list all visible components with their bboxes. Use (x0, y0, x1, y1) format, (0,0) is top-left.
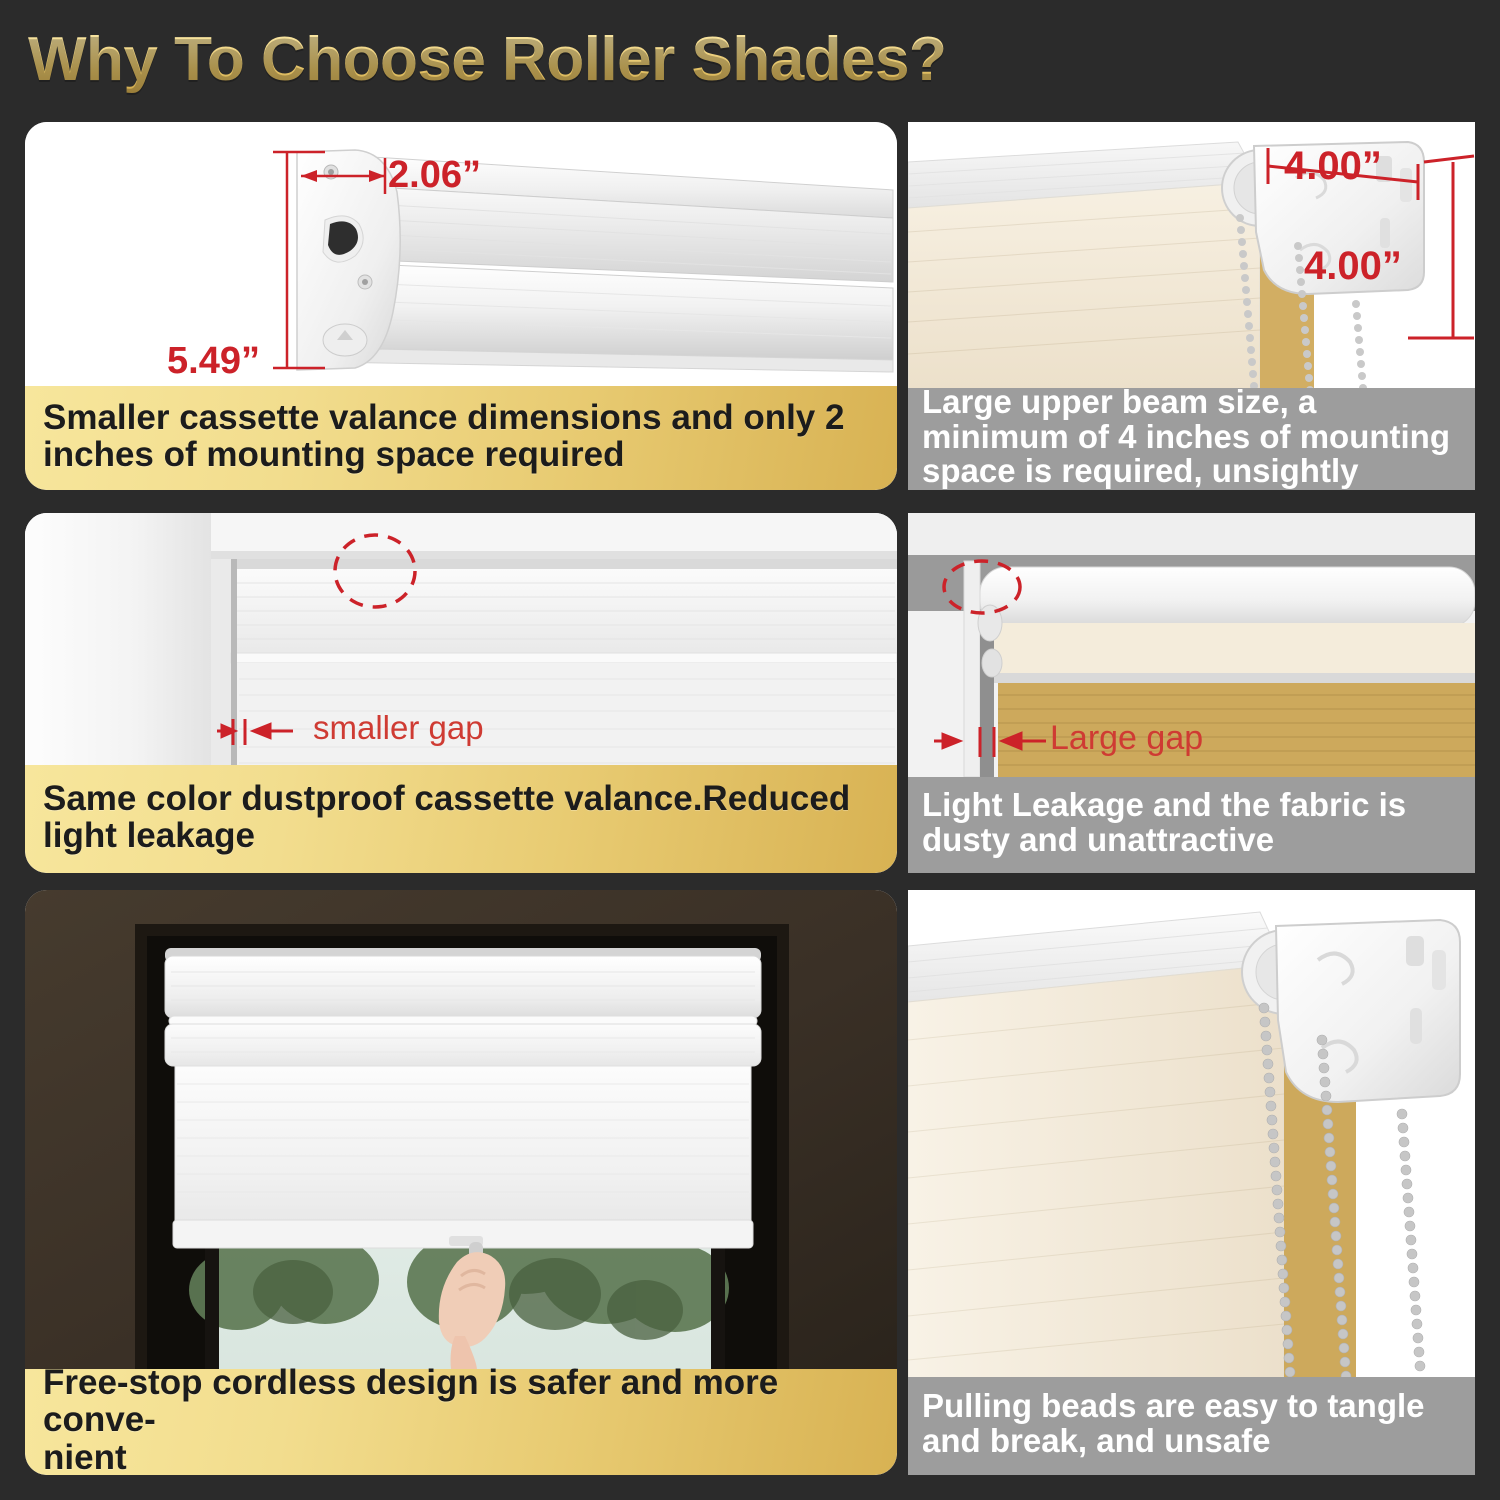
dimension-label-width: 2.06” (388, 154, 481, 197)
panel-5-caption: Free-stop cordless design is safer and m… (25, 1369, 897, 1475)
caption-line: Pulling beads are easy to tangle (922, 1389, 1461, 1424)
panel-3-caption: Same color dustproof cassette valance.Re… (25, 765, 897, 873)
caption-line: dusty and unattractive (922, 823, 1461, 858)
bead-chain-illustration (908, 890, 1475, 1378)
panel-2-caption: Large upper beam size, a minimum of 4 in… (908, 388, 1475, 490)
panel-6-caption: Pulling beads are easy to tangle and bre… (908, 1377, 1475, 1475)
panel-cassette-valance-dimensions: 2.06” 5.49” Smaller cassette valance dim… (25, 122, 897, 490)
panel-free-stop-cordless-design: Free-stop cordless design is safer and m… (25, 890, 897, 1475)
caption-line: light leakage (43, 817, 879, 854)
caption-line: Large upper beam size, a (922, 385, 1461, 420)
panel-light-leakage-dusty-fabric: Large gap Light Leakage and the fabric i… (908, 513, 1475, 873)
dimension-label-height: 5.49” (167, 340, 260, 383)
window-room-scene (25, 890, 897, 1370)
caption-line: Free-stop cordless design is safer and m… (43, 1364, 879, 1438)
dimension-label-width: 4.00” (1284, 144, 1382, 189)
caption-line: nient (43, 1439, 879, 1475)
caption-line: space is required, unsightly (922, 454, 1461, 489)
panel-large-upper-beam: 4.00” 4.00” Large upper beam size, a min… (908, 122, 1475, 490)
panel-4-caption: Light Leakage and the fabric is dusty an… (908, 777, 1475, 873)
panel-dustproof-cassette-valance: smaller gap Same color dustproof cassett… (25, 513, 897, 873)
caption-line: inches of mounting space required (43, 436, 879, 473)
gap-label-large: Large gap (1050, 719, 1203, 758)
panel-pulling-beads-tangle: Pulling beads are easy to tangle and bre… (908, 890, 1475, 1475)
gap-label-smaller: smaller gap (313, 709, 484, 747)
caption-line: and break, and unsafe (922, 1424, 1461, 1459)
caption-line: Light Leakage and the fabric is (922, 788, 1461, 823)
dimension-label-height: 4.00” (1304, 244, 1402, 289)
panel-1-caption: Smaller cassette valance dimensions and … (25, 386, 897, 490)
caption-line: Same color dustproof cassette valance.Re… (43, 780, 879, 817)
caption-line: minimum of 4 inches of mounting (922, 420, 1461, 455)
page-title: Why To Choose Roller Shades? (28, 24, 946, 95)
infographic-root: Why To Choose Roller Shades? (0, 0, 1500, 1500)
caption-line: Smaller cassette valance dimensions and … (43, 399, 879, 436)
